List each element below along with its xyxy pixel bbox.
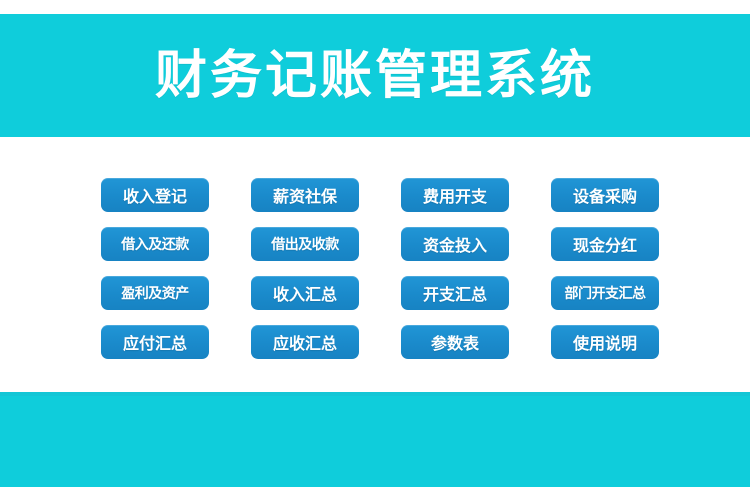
menu-button-income-registration[interactable]: 收入登记	[101, 178, 209, 212]
menu-button-grid: 收入登记 薪资社保 费用开支 设备采购 借入及还款 借出及收款 资金投入 现金分…	[101, 178, 659, 359]
page-title: 财务记账管理系统	[155, 50, 595, 102]
menu-button-department-expense-summary[interactable]: 部门开支汇总	[551, 276, 659, 310]
menu-button-instructions[interactable]: 使用说明	[551, 325, 659, 359]
menu-button-cash-dividend[interactable]: 现金分红	[551, 227, 659, 261]
menu-area: 收入登记 薪资社保 费用开支 设备采购 借入及还款 借出及收款 资金投入 现金分…	[0, 137, 750, 392]
menu-button-profit-and-assets[interactable]: 盈利及资产	[101, 276, 209, 310]
app-window: 财务记账管理系统 收入登记 薪资社保 费用开支 设备采购 借入及还款 借出及收款…	[0, 0, 750, 501]
header-banner: 财务记账管理系统	[0, 14, 750, 137]
menu-button-equipment-purchase[interactable]: 设备采购	[551, 178, 659, 212]
menu-button-expense-payment[interactable]: 费用开支	[401, 178, 509, 212]
menu-button-salary-social-insurance[interactable]: 薪资社保	[251, 178, 359, 212]
menu-button-receivable-summary[interactable]: 应收汇总	[251, 325, 359, 359]
menu-button-capital-investment[interactable]: 资金投入	[401, 227, 509, 261]
menu-button-lend-and-collect[interactable]: 借出及收款	[251, 227, 359, 261]
menu-button-expense-summary[interactable]: 开支汇总	[401, 276, 509, 310]
bottom-margin	[0, 487, 750, 501]
menu-button-borrow-and-repay[interactable]: 借入及还款	[101, 227, 209, 261]
footer-banner	[0, 392, 750, 487]
footer-top-edge	[0, 392, 750, 396]
menu-button-parameter-table[interactable]: 参数表	[401, 325, 509, 359]
menu-button-payable-summary[interactable]: 应付汇总	[101, 325, 209, 359]
menu-button-income-summary[interactable]: 收入汇总	[251, 276, 359, 310]
